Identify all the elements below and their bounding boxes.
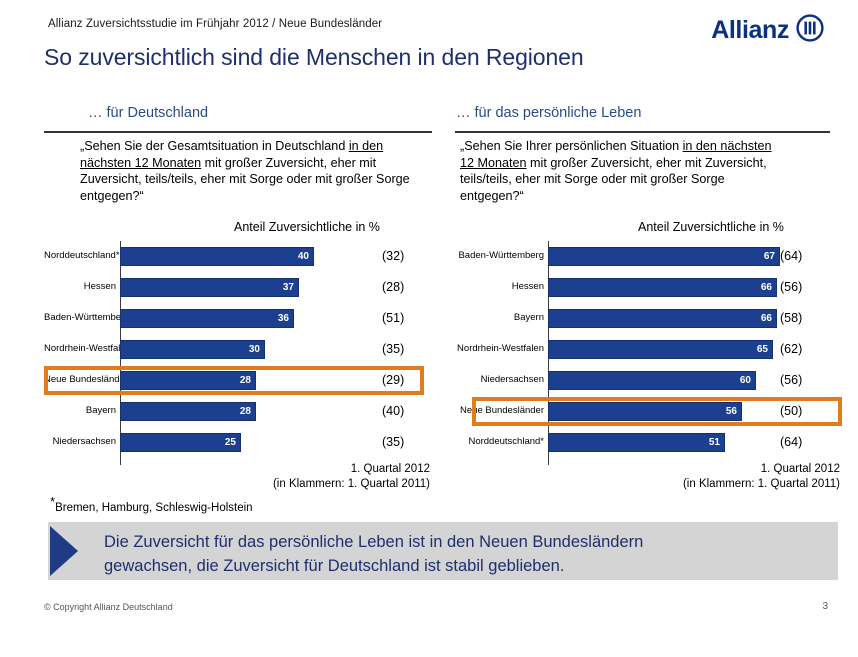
chart-row: Nordrhein-Westfalen65(62)	[452, 334, 847, 364]
conclusion-banner-text: Die Zuversicht für das persönliche Leben…	[104, 530, 830, 578]
bar-value-label: 30	[249, 341, 260, 358]
bar-category-label: Bayern	[452, 303, 544, 333]
previous-year-value: (58)	[780, 303, 802, 333]
bar-value-label: 51	[709, 434, 720, 451]
question-right-part1: „Sehen Sie Ihrer persönlichen Situation	[460, 139, 683, 153]
previous-year-value: (62)	[780, 334, 802, 364]
chart-row: Norddeutschland*40(32)	[44, 241, 439, 271]
bar-category-label: Neue Bundesländer	[44, 365, 116, 395]
chart-row: Neue Bundesländer56(50)	[452, 396, 847, 426]
page-title: So zuversichtlich sind die Menschen in d…	[44, 44, 584, 71]
bar-value-label: 28	[240, 403, 251, 420]
bar-value-label: 37	[283, 279, 294, 296]
bar-value-label: 40	[298, 248, 309, 265]
footnote: *Bremen, Hamburg, Schleswig-Holstein	[50, 494, 253, 514]
question-text-deutschland: „Sehen Sie der Gesamtsituation in Deutsc…	[80, 138, 410, 204]
bar-category-label: Niedersachsen	[452, 365, 544, 395]
bar: 56	[548, 402, 742, 421]
quarter-note-left-line2: (in Klammern: 1. Quartal 2011)	[200, 477, 430, 492]
conclusion-line-2: gewachsen, die Zuversicht für Deutschlan…	[104, 554, 830, 578]
chart-row: Neue Bundesländer28(29)	[44, 365, 439, 395]
bar-value-label: 60	[740, 372, 751, 389]
allianz-bars-circle-icon	[796, 14, 824, 47]
bar-category-label: Baden-Württemberg	[44, 303, 116, 333]
chart-row: Hessen37(28)	[44, 272, 439, 302]
chart-row: Baden-Württemberg36(51)	[44, 303, 439, 333]
conclusion-line-1: Die Zuversicht für das persönliche Leben…	[104, 530, 830, 554]
bar-category-label: Bayern	[44, 396, 116, 426]
bar-category-label: Norddeutschland*	[452, 427, 544, 457]
bar: 40	[120, 247, 314, 266]
question-text-persoenliches-leben: „Sehen Sie Ihrer persönlichen Situation …	[460, 138, 780, 204]
footnote-text: Bremen, Hamburg, Schleswig-Holstein	[55, 502, 253, 514]
bar-value-label: 36	[278, 310, 289, 327]
quarter-note-right-line1: 1. Quartal 2012	[610, 462, 840, 477]
bar: 67	[548, 247, 780, 266]
chart-row: Niedersachsen60(56)	[452, 365, 847, 395]
quarter-note-right: 1. Quartal 2012 (in Klammern: 1. Quartal…	[610, 462, 840, 492]
previous-year-value: (40)	[382, 396, 404, 426]
previous-year-value: (32)	[382, 241, 404, 271]
bar-value-label: 25	[225, 434, 236, 451]
study-kicker: Allianz Zuversichtsstudie im Frühjahr 20…	[48, 18, 382, 30]
bar: 60	[548, 371, 756, 390]
copyright-text: © Copyright Allianz Deutschland	[44, 602, 173, 612]
chart-row: Bayern66(58)	[452, 303, 847, 333]
bar: 30	[120, 340, 265, 359]
previous-year-value: (29)	[382, 365, 404, 395]
bar-value-label: 66	[761, 310, 772, 327]
previous-year-value: (50)	[780, 396, 802, 426]
bar: 36	[120, 309, 294, 328]
chart-row: Norddeutschland*51(64)	[452, 427, 847, 457]
column-heading-deutschland: … für Deutschland	[88, 105, 208, 121]
chart-row: Nordrhein-Westfalen30(35)	[44, 334, 439, 364]
bar-category-label: Niedersachsen	[44, 427, 116, 457]
previous-year-value: (56)	[780, 272, 802, 302]
bar-value-label: 28	[240, 372, 251, 389]
bar-value-label: 66	[761, 279, 772, 296]
bar-chart-persoenliches-leben: Anteil Zuversichtliche in % Baden-Württe…	[452, 220, 847, 465]
page-number: 3	[822, 601, 828, 612]
bar: 65	[548, 340, 773, 359]
bar: 37	[120, 278, 299, 297]
chart-right-axis-title: Anteil Zuversichtliche in %	[638, 220, 784, 234]
previous-year-value: (28)	[382, 272, 404, 302]
allianz-wordmark: Allianz	[711, 16, 789, 45]
quarter-note-right-line2: (in Klammern: 1. Quartal 2011)	[610, 477, 840, 492]
chart-row: Hessen66(56)	[452, 272, 847, 302]
column-heading-persoenliches-leben: … für das persönliche Leben	[456, 105, 641, 121]
chart-left-plot: Norddeutschland*40(32)Hessen37(28)Baden-…	[44, 241, 439, 465]
previous-year-value: (51)	[382, 303, 404, 333]
bar-category-label: Nordrhein-Westfalen	[452, 334, 544, 364]
bar-category-label: Neue Bundesländer	[452, 396, 544, 426]
chevron-right-icon	[48, 522, 94, 580]
bar-category-label: Norddeutschland*	[44, 241, 116, 271]
allianz-logo: Allianz	[711, 14, 824, 47]
chart-right-plot: Baden-Württemberg67(64)Hessen66(56)Bayer…	[452, 241, 847, 465]
divider-left	[44, 131, 432, 133]
quarter-note-left: 1. Quartal 2012 (in Klammern: 1. Quartal…	[200, 462, 430, 492]
previous-year-value: (35)	[382, 427, 404, 457]
quarter-note-left-line1: 1. Quartal 2012	[200, 462, 430, 477]
bar-value-label: 65	[757, 341, 768, 358]
bar: 66	[548, 309, 777, 328]
bar-value-label: 56	[726, 403, 737, 420]
bar-category-label: Baden-Württemberg	[452, 241, 544, 271]
chart-row: Bayern28(40)	[44, 396, 439, 426]
bar-category-label: Nordrhein-Westfalen	[44, 334, 116, 364]
previous-year-value: (35)	[382, 334, 404, 364]
previous-year-value: (56)	[780, 365, 802, 395]
bar: 28	[120, 402, 256, 421]
bar: 28	[120, 371, 256, 390]
chart-left-axis-title: Anteil Zuversichtliche in %	[234, 220, 380, 234]
previous-year-value: (64)	[780, 241, 802, 271]
question-left-part1: „Sehen Sie der Gesamtsituation in Deutsc…	[80, 139, 349, 153]
previous-year-value: (64)	[780, 427, 802, 457]
bar: 51	[548, 433, 725, 452]
bar-category-label: Hessen	[44, 272, 116, 302]
chart-row: Niedersachsen25(35)	[44, 427, 439, 457]
bar-category-label: Hessen	[452, 272, 544, 302]
bar: 66	[548, 278, 777, 297]
bar: 25	[120, 433, 241, 452]
chart-row: Baden-Württemberg67(64)	[452, 241, 847, 271]
bar-value-label: 67	[764, 248, 775, 265]
divider-right	[455, 131, 830, 133]
bar-chart-deutschland: Anteil Zuversichtliche in % Norddeutschl…	[44, 220, 439, 465]
conclusion-banner: Die Zuversicht für das persönliche Leben…	[48, 522, 838, 580]
